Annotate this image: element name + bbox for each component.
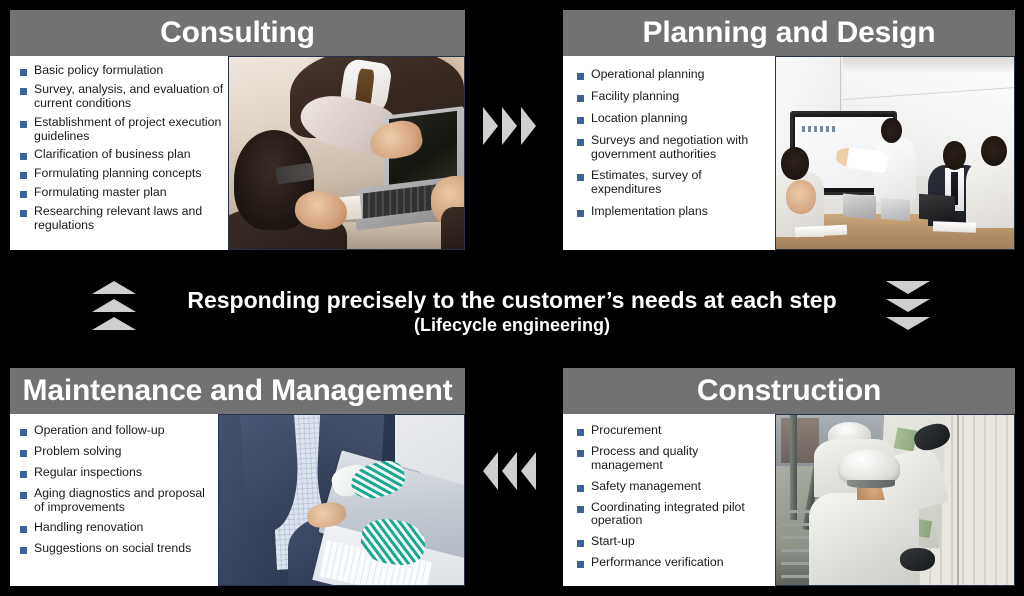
banner-text: Responding precisely to the customer’s n… <box>187 286 836 337</box>
chevron-right-icon <box>521 107 536 145</box>
panel-maintenance-and-management-body: Operation and follow-up Problem solving … <box>10 414 465 586</box>
list-item-text: Handling renovation <box>34 521 214 535</box>
list-item: Procurement <box>577 424 771 438</box>
chevron-left-icon <box>521 452 536 490</box>
list-item-text: Suggestions on social trends <box>34 542 214 556</box>
bullet-square-icon <box>20 547 27 554</box>
panel-planning-and-design: Planning and Design Operational planning… <box>563 10 1015 250</box>
list-item-text: Problem solving <box>34 445 214 459</box>
list-item: Handling renovation <box>20 521 214 535</box>
list-item-text: Safety management <box>591 480 771 494</box>
bullet-square-icon <box>577 117 584 124</box>
list-item: Operation and follow-up <box>20 424 214 438</box>
list-item-text: Estimates, survey of expenditures <box>591 169 771 197</box>
list-item-text: Operational planning <box>591 68 771 82</box>
panel-construction-photo <box>775 414 1015 586</box>
chevron-right-icon <box>502 107 517 145</box>
bullet-square-icon <box>577 73 584 80</box>
panel-planning-and-design-body: Operational planning Facility planning L… <box>563 56 1015 250</box>
list-item: Performance verification <box>577 556 771 570</box>
banner: Responding precisely to the customer’s n… <box>0 272 1024 352</box>
list-item: Estimates, survey of expenditures <box>577 169 771 197</box>
bullet-square-icon <box>20 526 27 533</box>
panel-construction-body: Procurement Process and quality manageme… <box>563 414 1015 586</box>
list-item: Clarification of business plan <box>20 148 224 162</box>
list-item: Coordinating integrated pilot operation <box>577 501 771 529</box>
list-item: Facility planning <box>577 90 771 104</box>
list-item-text: Aging diagnostics and proposal of improv… <box>34 487 214 515</box>
list-item: Operational planning <box>577 68 771 82</box>
connector-bottom-left-chevrons <box>483 452 536 490</box>
chevron-left-icon <box>502 452 517 490</box>
list-item-text: Implementation plans <box>591 205 771 219</box>
bullet-square-icon <box>20 471 27 478</box>
list-item-text: Regular inspections <box>34 466 214 480</box>
list-item: Formulating planning concepts <box>20 167 224 181</box>
list-item: Problem solving <box>20 445 214 459</box>
panel-maintenance-and-management: Maintenance and Management Operation and… <box>10 368 465 586</box>
bullet-square-icon <box>577 210 584 217</box>
list-item-text: Facility planning <box>591 90 771 104</box>
list-item-text: Coordinating integrated pilot operation <box>591 501 771 529</box>
chevron-right-icon <box>483 107 498 145</box>
bullet-square-icon <box>577 561 584 568</box>
chevron-down-icon <box>886 317 930 330</box>
panel-construction-list: Procurement Process and quality manageme… <box>563 414 775 586</box>
bullet-square-icon <box>20 69 27 76</box>
list-item-text: Establishment of project execution guide… <box>34 116 224 144</box>
bullet-square-icon <box>20 210 27 217</box>
panel-consulting-photo <box>228 56 465 250</box>
bullet-square-icon <box>577 450 584 457</box>
list-item-text: Procurement <box>591 424 771 438</box>
list-item-text: Start-up <box>591 535 771 549</box>
bullet-square-icon <box>577 174 584 181</box>
list-item: Suggestions on social trends <box>20 542 214 556</box>
bullet-square-icon <box>577 429 584 436</box>
bullet-square-icon <box>577 506 584 513</box>
panel-planning-and-design-photo <box>775 56 1015 250</box>
banner-line-2: (Lifecycle engineering) <box>187 314 836 337</box>
bullet-square-icon <box>20 121 27 128</box>
list-item-text: Researching relevant laws and regulation… <box>34 205 224 233</box>
list-item-text: Process and quality management <box>591 445 771 473</box>
banner-right-down-chevrons <box>886 281 930 330</box>
banner-line-1: Responding precisely to the customer’s n… <box>187 286 836 314</box>
list-item: Implementation plans <box>577 205 771 219</box>
bullet-square-icon <box>20 429 27 436</box>
chevron-up-icon <box>92 317 136 330</box>
list-item: Researching relevant laws and regulation… <box>20 205 224 233</box>
panel-maintenance-and-management-photo <box>218 414 465 586</box>
panel-consulting-body: Basic policy formulation Survey, analysi… <box>10 56 465 250</box>
list-item: Formulating master plan <box>20 186 224 200</box>
panel-planning-and-design-list: Operational planning Facility planning L… <box>563 56 775 250</box>
list-item-text: Formulating master plan <box>34 186 224 200</box>
panel-construction: Construction Procurement Process and qua… <box>563 368 1015 586</box>
chevron-up-icon <box>92 299 136 312</box>
bullet-square-icon <box>20 153 27 160</box>
chevron-up-icon <box>92 281 136 294</box>
list-item-text: Basic policy formulation <box>34 64 224 78</box>
list-item-text: Formulating planning concepts <box>34 167 224 181</box>
list-item: Regular inspections <box>20 466 214 480</box>
list-item-text: Operation and follow-up <box>34 424 214 438</box>
list-item: Process and quality management <box>577 445 771 473</box>
bullet-square-icon <box>20 492 27 499</box>
list-item: Aging diagnostics and proposal of improv… <box>20 487 214 515</box>
panel-consulting: Consulting Basic policy formulation Surv… <box>10 10 465 250</box>
list-item-text: Location planning <box>591 112 771 126</box>
panel-maintenance-and-management-list: Operation and follow-up Problem solving … <box>10 414 218 586</box>
panel-maintenance-and-management-title: Maintenance and Management <box>10 368 465 414</box>
bullet-square-icon <box>577 139 584 146</box>
list-item-text: Performance verification <box>591 556 771 570</box>
list-item-text: Survey, analysis, and evaluation of curr… <box>34 83 224 111</box>
list-item: Start-up <box>577 535 771 549</box>
list-item-text: Clarification of business plan <box>34 148 224 162</box>
list-item: Safety management <box>577 480 771 494</box>
chevron-down-icon <box>886 299 930 312</box>
bullet-square-icon <box>20 172 27 179</box>
list-item: Establishment of project execution guide… <box>20 116 224 144</box>
bullet-square-icon <box>20 450 27 457</box>
list-item: Basic policy formulation <box>20 64 224 78</box>
list-item: Surveys and negotiation with government … <box>577 134 771 162</box>
lifecycle-engineering-diagram: Consulting Basic policy formulation Surv… <box>0 0 1024 596</box>
list-item-text: Surveys and negotiation with government … <box>591 134 771 162</box>
chevron-down-icon <box>886 281 930 294</box>
bullet-square-icon <box>20 88 27 95</box>
panel-construction-title: Construction <box>563 368 1015 414</box>
panel-consulting-list: Basic policy formulation Survey, analysi… <box>10 56 228 250</box>
panel-planning-and-design-title: Planning and Design <box>563 10 1015 56</box>
list-item: Survey, analysis, and evaluation of curr… <box>20 83 224 111</box>
bullet-square-icon <box>577 485 584 492</box>
banner-left-up-chevrons <box>92 281 136 330</box>
connector-top-right-chevrons <box>483 107 536 145</box>
list-item: Location planning <box>577 112 771 126</box>
bullet-square-icon <box>577 95 584 102</box>
panel-consulting-title: Consulting <box>10 10 465 56</box>
chevron-left-icon <box>483 452 498 490</box>
bullet-square-icon <box>577 540 584 547</box>
bullet-square-icon <box>20 191 27 198</box>
